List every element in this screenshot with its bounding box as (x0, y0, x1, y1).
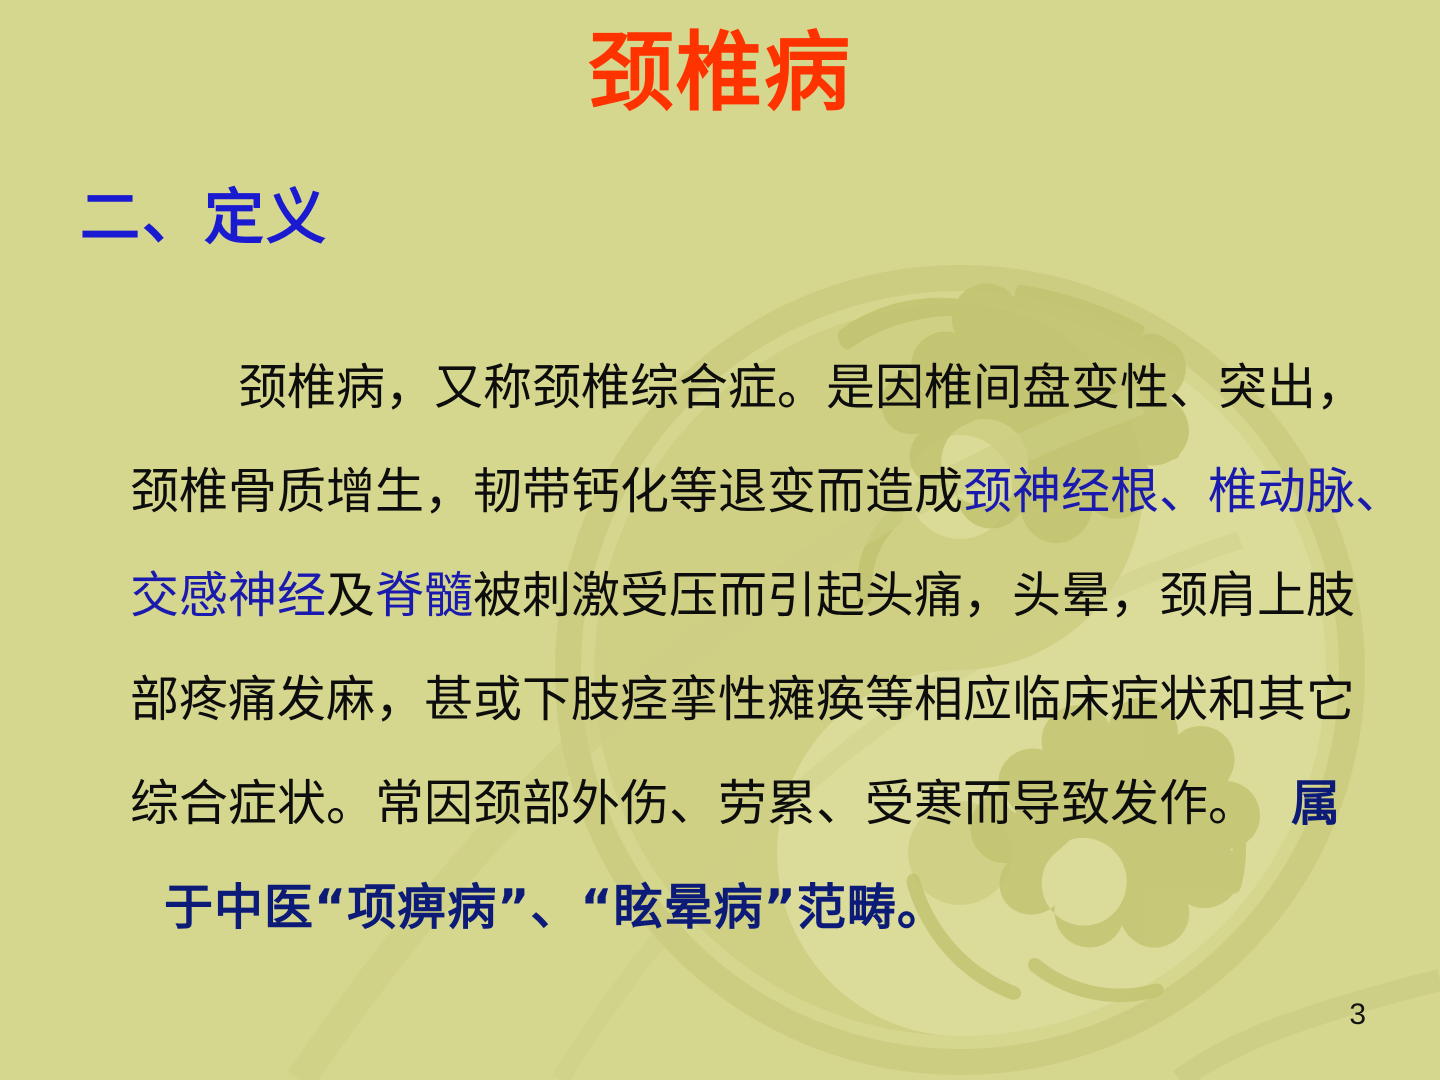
line3-black-b: 被刺激受压而引起头痛，头晕，颈肩上肢 (473, 567, 1355, 624)
line3-blue-b: 脊髓 (375, 567, 473, 624)
line2-text-blue: 颈神经根、椎动脉、 (963, 463, 1404, 520)
paragraph-line-6: 于中医“项痹病”、“眩晕病”范畴。 (130, 856, 1360, 960)
line3-black-a: 及 (326, 567, 375, 624)
paragraph-line-5: 综合症状。常因颈部外伤、劳累、受寒而导致发作。属 (130, 752, 1360, 856)
paragraph-line-4: 部疼痛发麻，甚或下肢痉挛性瘫痪等相应临床症状和其它 (130, 648, 1360, 752)
line3-blue-a: 交感神经 (130, 567, 326, 624)
line5-text-black: 综合症状。常因颈部外伤、劳累、受寒而导致发作。 (130, 775, 1257, 832)
definition-paragraph: 颈椎病，又称颈椎综合症。是因椎间盘变性、突出， 颈椎骨质增生，韧带钙化等退变而造… (130, 336, 1360, 960)
line1-text: 颈椎病，又称颈椎综合症。是因椎间盘变性、突出， (238, 359, 1365, 416)
line5-text-blue: 属 (1291, 775, 1340, 832)
paragraph-line-3: 交感神经及脊髓被刺激受压而引起头痛，头晕，颈肩上肢 (130, 544, 1360, 648)
section-heading: 二、定义 (80, 184, 328, 253)
paragraph-line-1: 颈椎病，又称颈椎综合症。是因椎间盘变性、突出， (130, 336, 1360, 440)
slide: 颈椎病 二、定义 颈椎病，又称颈椎综合症。是因椎间盘变性、突出， 颈椎骨质增生，… (0, 0, 1440, 1080)
paragraph-line-2: 颈椎骨质增生，韧带钙化等退变而造成颈神经根、椎动脉、 (130, 440, 1360, 544)
line2-text-black: 颈椎骨质增生，韧带钙化等退变而造成 (130, 463, 963, 520)
line6-text: 于中医“项痹病”、“眩晕病”范畴。 (164, 879, 947, 936)
page-number: 3 (1349, 998, 1366, 1032)
line4-text: 部疼痛发麻，甚或下肢痉挛性瘫痪等相应临床症状和其它 (130, 671, 1355, 728)
page-title: 颈椎病 (0, 26, 1440, 121)
